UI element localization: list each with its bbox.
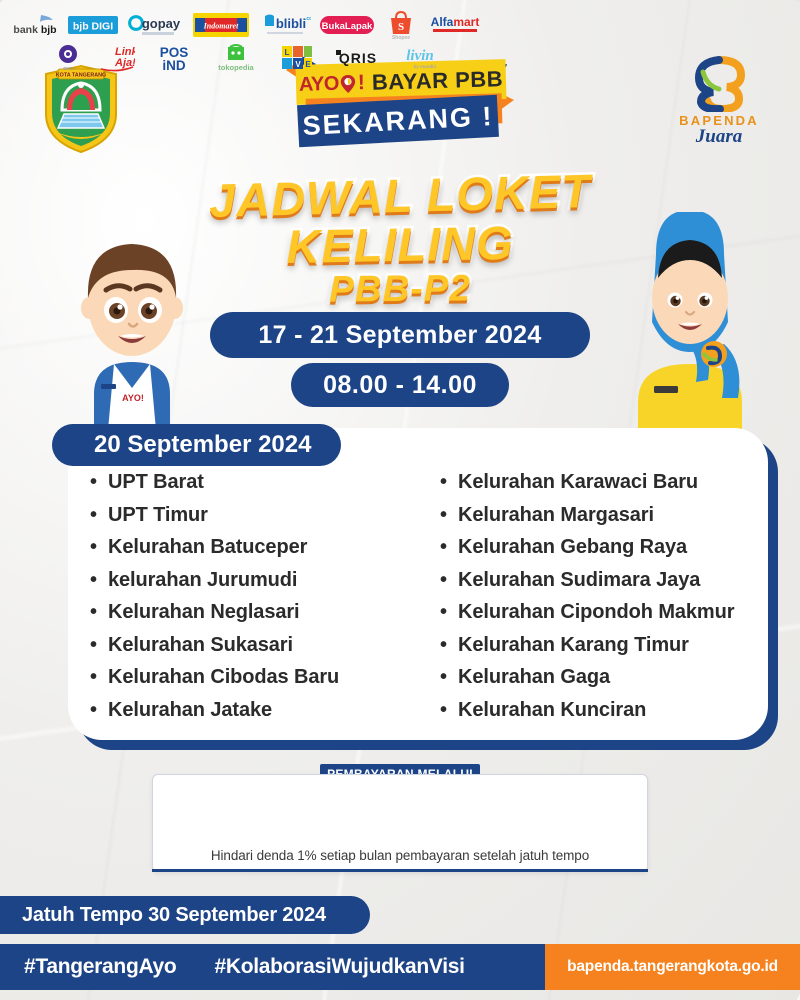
bapenda-tagline: Juara bbox=[696, 126, 742, 148]
location-lists: UPT Barat UPT Timur Kelurahan Batuceper … bbox=[68, 466, 768, 726]
bapenda-juara-logo: BAPENDA Juara bbox=[660, 56, 778, 156]
list-item: Kelurahan Kunciran bbox=[436, 694, 750, 727]
list-item: Kelurahan Batuceper bbox=[86, 531, 418, 564]
ayo-exclamation: ! bbox=[358, 71, 366, 95]
svg-text:AYO!: AYO! bbox=[122, 393, 144, 403]
svg-text:by mandiri: by mandiri bbox=[413, 64, 436, 69]
svg-text:V: V bbox=[296, 60, 302, 69]
list-item: Kelurahan Jatake bbox=[86, 694, 418, 727]
svg-text:tokopedia: tokopedia bbox=[218, 63, 254, 72]
svg-text:S: S bbox=[398, 21, 404, 33]
payment-logos-row-2: ovo Link Aja! POS iND tokopedia bbox=[0, 42, 496, 74]
female-mascot-illustration bbox=[604, 212, 776, 430]
location-pin-icon bbox=[340, 74, 357, 93]
location-list-left: UPT Barat UPT Timur Kelurahan Batuceper … bbox=[86, 466, 418, 726]
svg-text:QRIS: QRIS bbox=[338, 50, 376, 66]
svg-text:E: E bbox=[306, 60, 312, 69]
payment-penalty-note: Hindari denda 1% setiap bulan pembayaran… bbox=[152, 848, 648, 863]
svg-text:BukaLapak: BukaLapak bbox=[322, 21, 373, 32]
svg-text:bank bjb: bank bjb bbox=[13, 24, 56, 36]
payment-logo-tokopedia: tokopedia bbox=[212, 43, 260, 73]
svg-text:L: L bbox=[285, 48, 290, 57]
payment-panel-underline bbox=[152, 869, 648, 872]
sekarang-text: SEKARANG ! bbox=[302, 101, 494, 142]
list-item: Kelurahan Cipondoh Makmur bbox=[436, 596, 750, 629]
date-range-pill: 17 - 21 September 2024 bbox=[210, 312, 590, 358]
list-item: Kelurahan Margasari bbox=[436, 499, 750, 532]
list-item: UPT Barat bbox=[86, 466, 418, 499]
schedule-date-header: 20 September 2024 bbox=[52, 424, 341, 466]
svg-text:iND: iND bbox=[162, 58, 186, 73]
time-range-pill: 08.00 - 14.00 bbox=[291, 363, 509, 407]
payment-logo-alfamart: Alfamart bbox=[427, 10, 483, 40]
list-item: Kelurahan Cibodas Baru bbox=[86, 661, 418, 694]
svg-text:gopay: gopay bbox=[142, 16, 181, 31]
payment-logo-shopee: S Shopee bbox=[384, 10, 418, 40]
list-item: Kelurahan Karawaci Baru bbox=[436, 466, 750, 499]
svg-text:Alfamart: Alfamart bbox=[431, 15, 480, 29]
due-date-banner: Jatuh Tempo 30 September 2024 bbox=[0, 896, 370, 934]
website-badge[interactable]: bapenda.tangerangkota.go.id bbox=[545, 944, 800, 990]
payment-logo-linkaja: Link Aja! bbox=[99, 43, 135, 73]
payment-logo-bukalapak: BukaLapak bbox=[320, 10, 374, 40]
list-item: Kelurahan Sudimara Jaya bbox=[436, 564, 750, 597]
payment-logo-livin: livin by mandiri bbox=[399, 43, 441, 73]
hashtag-tangerang-ayo: #TangerangAyo bbox=[24, 955, 176, 979]
payment-logo-live: L V E bbox=[278, 43, 316, 73]
svg-text:livin: livin bbox=[406, 48, 434, 64]
hashtag-kolaborasi: #KolaborasiWujudkanVisi bbox=[214, 955, 464, 979]
list-item: UPT Timur bbox=[86, 499, 418, 532]
ayo-logo-icon: AYO ! bbox=[299, 71, 366, 97]
list-item: kelurahan Jurumudi bbox=[86, 564, 418, 597]
bapenda-swirl-icon bbox=[689, 56, 749, 112]
payment-logo-bjb-digi: bjb DIGI bbox=[68, 10, 118, 40]
male-mascot-illustration: AYO! bbox=[44, 212, 220, 430]
footer-hashtag-bar: #TangerangAyo #KolaborasiWujudkanVisi bbox=[0, 944, 545, 990]
svg-text:Indomaret: Indomaret bbox=[203, 22, 239, 31]
location-list-right: Kelurahan Karawaci Baru Kelurahan Margas… bbox=[418, 466, 750, 726]
list-item: Kelurahan Gebang Raya bbox=[436, 531, 750, 564]
payment-logo-ovo: ovo bbox=[55, 43, 81, 73]
payment-logo-pos-ind: POS iND bbox=[154, 43, 194, 73]
list-item: Kelurahan Sukasari bbox=[86, 629, 418, 662]
payment-logo-indomaret: Indomaret bbox=[193, 10, 249, 40]
payment-logo-bank-bjb: bank bjb bbox=[13, 10, 59, 40]
svg-text:bjb DIGI: bjb DIGI bbox=[73, 21, 113, 33]
payment-logo-gopay: gopay bbox=[128, 10, 184, 40]
ayo-brand-text: AYO bbox=[299, 72, 340, 96]
payment-logo-qris: QRIS bbox=[335, 43, 381, 73]
svg-text:Shopee: Shopee bbox=[392, 35, 410, 40]
svg-text:blibli: blibli bbox=[276, 16, 306, 31]
svg-text:ovo: ovo bbox=[63, 66, 73, 72]
list-item: Kelurahan Neglasari bbox=[86, 596, 418, 629]
svg-text:.com: .com bbox=[305, 16, 311, 22]
list-item: Kelurahan Gaga bbox=[436, 661, 750, 694]
payment-logos-row-1: bank bjb bjb DIGI gopay Indomaret blibli… bbox=[0, 8, 496, 42]
payment-logo-blibli: blibli .com bbox=[259, 10, 311, 40]
list-item: Kelurahan Karang Timur bbox=[436, 629, 750, 662]
